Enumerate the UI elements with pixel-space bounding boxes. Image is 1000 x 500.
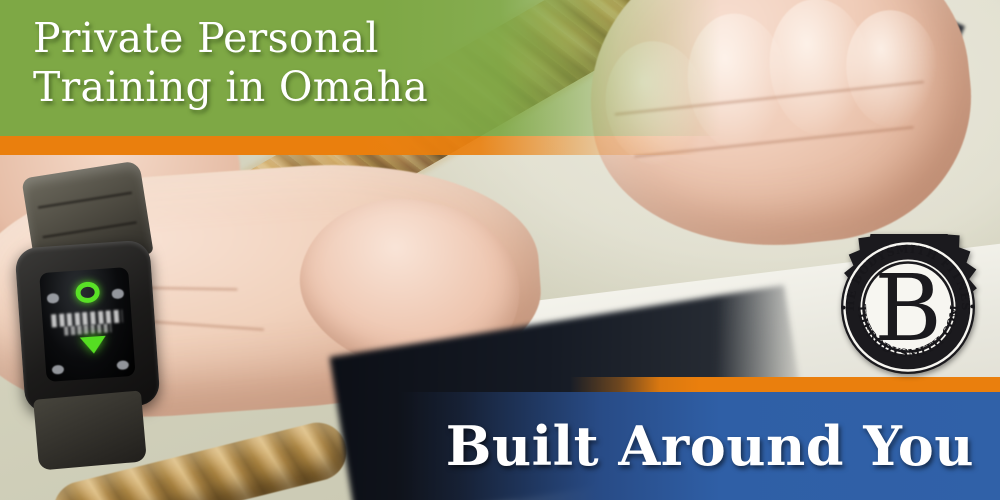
watch-corner-icon	[117, 360, 129, 371]
headline-line-2: Training in Omaha	[33, 63, 653, 112]
watch-corner-icon	[52, 365, 64, 376]
watch-label-line	[64, 323, 111, 336]
page-title: Private Personal Training in Omaha	[33, 14, 653, 112]
logo-monogram: B	[874, 255, 942, 362]
tagline: Built Around You	[446, 414, 974, 478]
strap-seam	[43, 222, 137, 239]
bodysmith-logo[interactable]: THE BODYSMITH FITNESS THEBODYSMITH.COM •…	[835, 234, 981, 380]
headline-line-1: Private Personal	[33, 14, 379, 62]
logo-right-bullet: •	[965, 303, 979, 311]
logo-left-bullet: •	[837, 303, 851, 311]
orange-accent-bar-top	[0, 136, 1000, 155]
watch-corner-icon	[47, 293, 59, 304]
down-arrow-icon	[79, 336, 106, 355]
watch-corner-icon	[112, 289, 124, 300]
watch-screen	[39, 268, 135, 383]
activity-ring-icon	[75, 282, 100, 304]
strap-seam	[38, 192, 132, 209]
promo-banner: Private Personal Training in Omaha Built…	[0, 0, 1000, 500]
